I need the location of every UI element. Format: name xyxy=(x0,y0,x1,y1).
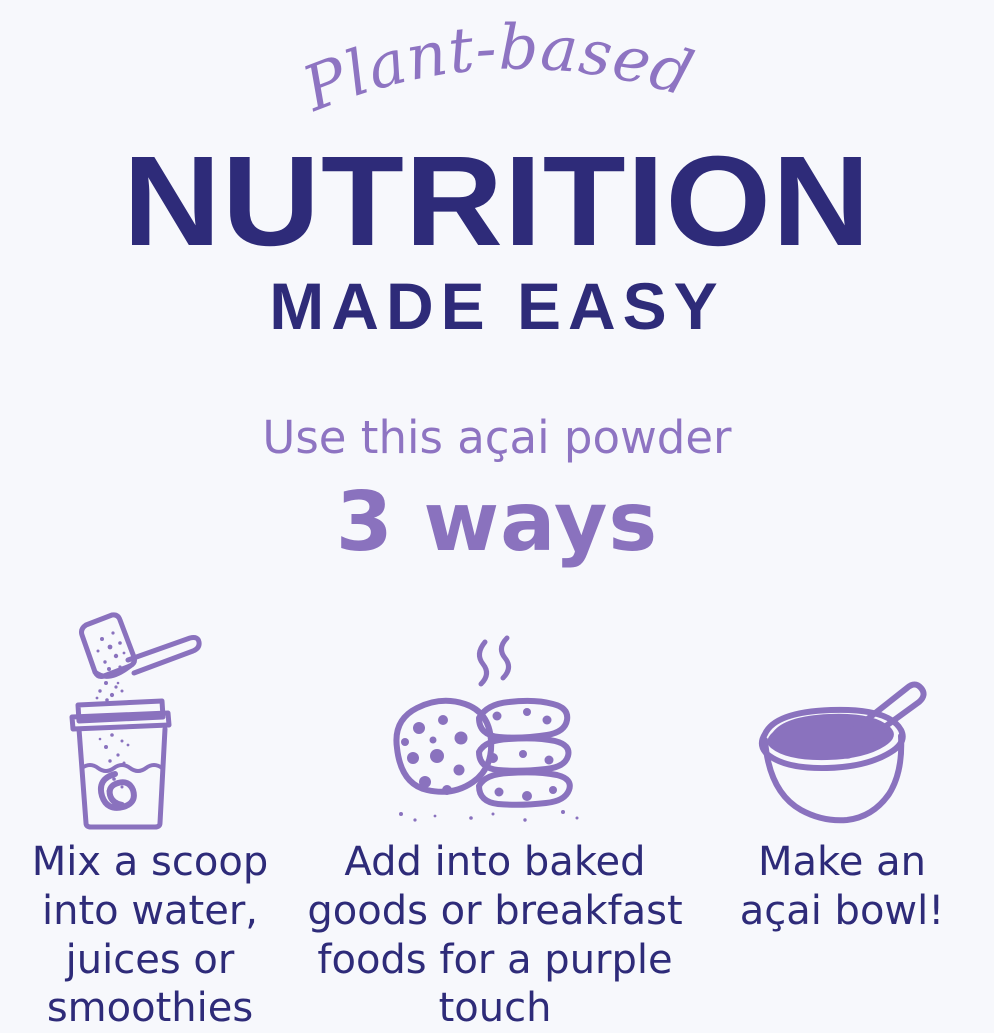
eyebrow-script-banner: Plant-based xyxy=(0,10,994,130)
eyebrow-text: Plant-based xyxy=(292,11,702,126)
ways-count-text: 3 ways xyxy=(0,482,994,564)
way-column-3: Make an açai bowl! xyxy=(690,600,994,936)
acai-bowl-svg xyxy=(737,670,947,830)
way-caption-2: Add into baked goods or breakfast foods … xyxy=(297,838,693,1033)
ways-columns: Mix a scoop into water, juices or smooth… xyxy=(0,600,994,1024)
headline-primary: NUTRITION xyxy=(0,138,994,266)
acai-bowl-with-spoon-icon xyxy=(737,600,947,830)
eyebrow-arc-svg: Plant-based xyxy=(0,10,994,130)
headline-secondary: MADE EASY xyxy=(0,273,994,339)
shaker-bottle-with-scoop-icon xyxy=(50,600,250,830)
way-column-2: Add into baked goods or breakfast foods … xyxy=(300,600,690,1033)
cookies-svg xyxy=(375,620,615,830)
way-caption-3: Make an açai bowl! xyxy=(692,838,992,936)
usage-intro-text: Use this açai powder xyxy=(0,415,994,460)
way-column-1: Mix a scoop into water, juices or smooth… xyxy=(0,600,300,1033)
shaker-bottle-svg xyxy=(50,605,250,830)
cookies-with-steam-icon xyxy=(375,600,615,830)
promo-poster: Plant-based NUTRITION MADE EASY Use this… xyxy=(0,0,994,1024)
way-caption-1: Mix a scoop into water, juices or smooth… xyxy=(0,838,300,1033)
